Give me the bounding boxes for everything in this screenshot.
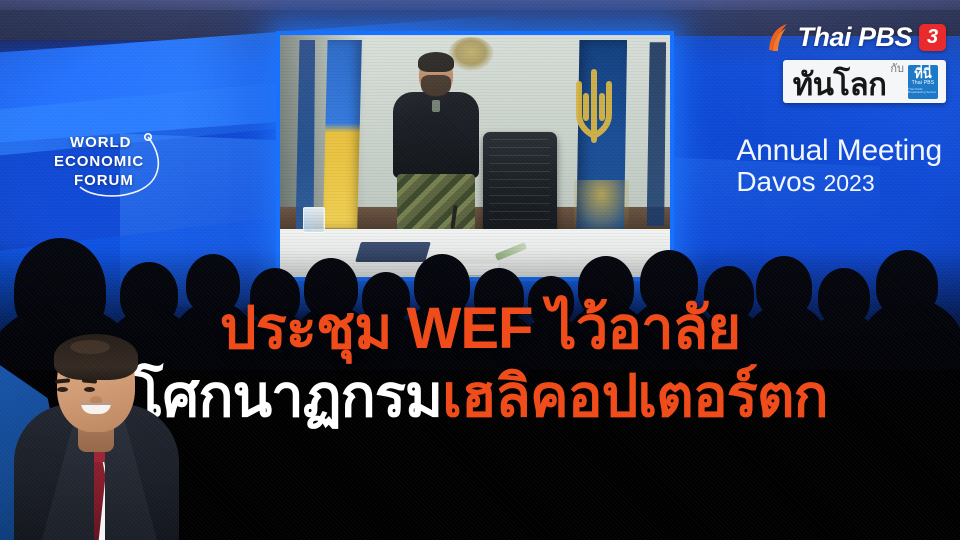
thai-pbs-swoosh-icon <box>766 23 790 53</box>
program-title: ทันโลก <box>793 70 887 99</box>
water-glass <box>303 207 325 233</box>
program-connector: กับ <box>890 64 904 75</box>
speaker-hair <box>418 52 454 72</box>
anchor-eye-left <box>57 387 68 392</box>
tryzub-emblem-icon <box>571 66 617 152</box>
event-title-line-2: Davos 2023 <box>736 167 942 197</box>
anchor-hair <box>54 334 138 380</box>
flag-gold-fringe <box>574 180 629 228</box>
program-logo: ทันโลก กับ ที่นี่ Thai PBS Thai Public B… <box>783 60 946 103</box>
world-economic-forum-logo: WORLD ECONOMIC FORUM <box>52 133 202 199</box>
video-wall-screen <box>276 31 674 281</box>
event-title-block: Annual Meeting Davos 2023 <box>736 135 942 198</box>
event-title-line-1: Annual Meeting <box>736 135 942 167</box>
flag-right-outer <box>647 42 667 226</box>
thai-pbs-logo: Thai PBS 3 <box>766 22 946 53</box>
ukraine-national-flag <box>323 40 362 229</box>
speaker-figure <box>389 54 483 228</box>
anchor-eye-right <box>84 387 95 392</box>
channel-number-badge: 3 <box>919 24 946 51</box>
office-chair <box>483 132 557 234</box>
program-badge-text: ที่นี่ <box>914 67 931 80</box>
speaker-shirt-emblem <box>432 100 440 112</box>
screen-video-content <box>280 35 670 277</box>
program-badge: ที่นี่ Thai PBS Thai Public Broadcasting… <box>908 65 938 99</box>
program-badge-subtext-2: Thai Public Broadcasting Service <box>908 88 938 95</box>
news-anchor-presenter <box>8 290 183 540</box>
headline-line-2-accent: เฮลิคอปเตอร์ตก <box>442 364 827 429</box>
wef-arc-icon <box>52 131 202 201</box>
speaker-cargo-trousers <box>397 174 475 232</box>
event-year: 2023 <box>823 170 874 196</box>
broadcast-screenshot: WORLD ECONOMIC FORUM Annual Meeting Davo… <box>0 0 960 540</box>
event-location: Davos <box>736 166 815 197</box>
speaker-beard <box>421 75 451 97</box>
thai-pbs-wordmark: Thai PBS <box>797 22 912 53</box>
